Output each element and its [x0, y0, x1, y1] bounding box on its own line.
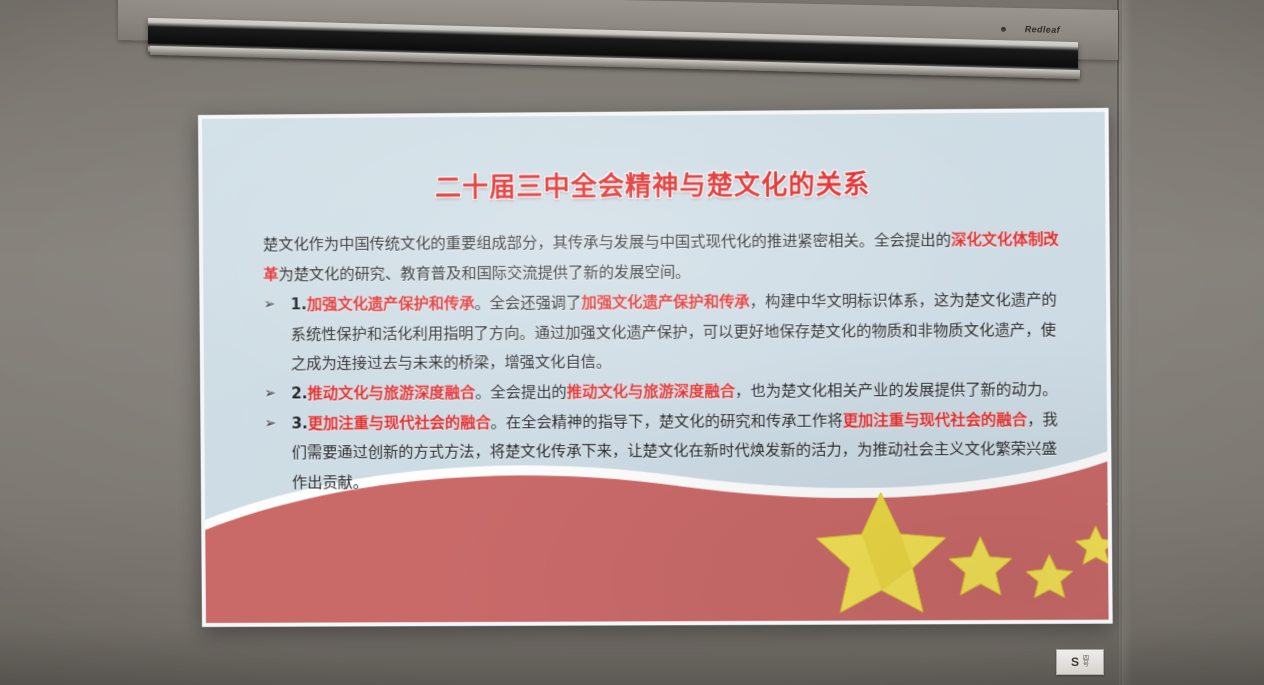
bullet-3-highlight-2: 更加注重与现代社会的融合 — [843, 410, 1028, 429]
sticker-code: 四 号 — [1083, 656, 1089, 669]
bullet-2-highlight-2: 推动文化与旅游深度融合 — [567, 382, 735, 401]
bullet-1-segment-1: 。全会还强调了 — [474, 294, 581, 313]
bullet-item-3: ➢3.更加注重与现代社会的融合。在全会精神的指导下，楚文化的研究和传承工作将更加… — [264, 405, 1063, 498]
bullet-1-highlight-1: 加强文化遗产保护和传承 — [307, 294, 475, 313]
bullet-arrow-icon: ➢ — [264, 380, 276, 410]
wall-seam — [1117, 0, 1119, 685]
bullet-2-segment-1: 。全会提出的 — [475, 383, 567, 402]
sticker-code-top: 四 — [1083, 656, 1089, 662]
bullet-number-3: 3. — [291, 414, 308, 432]
wall-label-sticker: S 四 号 — [1056, 649, 1104, 675]
bullet-1-highlight-2: 加强文化遗产保护和传承 — [581, 293, 749, 312]
bullet-item-2: ➢2.推动文化与旅游深度融合。全会提出的推动文化与旅游深度融合，也为楚文化相关产… — [264, 375, 1062, 409]
sticker-code-bottom: 号 — [1083, 662, 1089, 668]
slide-body: 楚文化作为中国传统文化的重要组成部分，其传承与发展与中国式现代化的推进紧密相关。… — [263, 225, 1063, 498]
classroom-photo: Redleaf — [0, 0, 1264, 685]
bullet-3-highlight-1: 更加注重与现代社会的融合 — [308, 413, 491, 432]
housing-indicator-dot — [1001, 27, 1006, 32]
bullet-arrow-icon: ➢ — [264, 409, 276, 439]
projected-slide: 二十届三中全会精神与楚文化的关系 楚文化作为中国传统文化的重要组成部分，其传承与… — [198, 108, 1113, 627]
slide-canvas: 二十届三中全会精神与楚文化的关系 楚文化作为中国传统文化的重要组成部分，其传承与… — [202, 112, 1109, 623]
slide-white-border: 二十届三中全会精神与楚文化的关系 楚文化作为中国传统文化的重要组成部分，其传承与… — [198, 108, 1113, 627]
wall-seam-highlight — [1122, 0, 1132, 685]
intro-paragraph: 楚文化作为中国传统文化的重要组成部分，其传承与发展与中国式现代化的推进紧密相关。… — [263, 225, 1061, 290]
bullet-item-1: ➢1.加强文化遗产保护和传承。全会还强调了加强文化遗产保护和传承，构建中华文明标… — [263, 286, 1062, 380]
intro-segment-1: 楚文化作为中国传统文化的重要组成部分，其传承与发展与中国式现代化的推进紧密相关。… — [263, 231, 951, 254]
bullet-3-segment-1: 。在全会精神的指导下，楚文化的研究和传承工作将 — [491, 411, 843, 431]
housing-brand-logo: Redleaf — [1025, 24, 1060, 35]
slide-title: 二十届三中全会精神与楚文化的关系 — [202, 162, 1105, 206]
bullet-arrow-icon: ➢ — [263, 291, 275, 321]
sticker-glyph: S — [1071, 656, 1079, 668]
bullet-2-highlight-1: 推动文化与旅游深度融合 — [308, 383, 476, 402]
bullet-number-1: 1. — [290, 295, 307, 313]
intro-segment-2: 为楚文化的研究、教育普及和国际交流提供了新的发展空间。 — [278, 262, 690, 283]
bullet-number-2: 2. — [291, 384, 308, 402]
bullet-2-segment-2: ，也为楚文化相关产业的发展提供了新的动力。 — [735, 380, 1058, 400]
